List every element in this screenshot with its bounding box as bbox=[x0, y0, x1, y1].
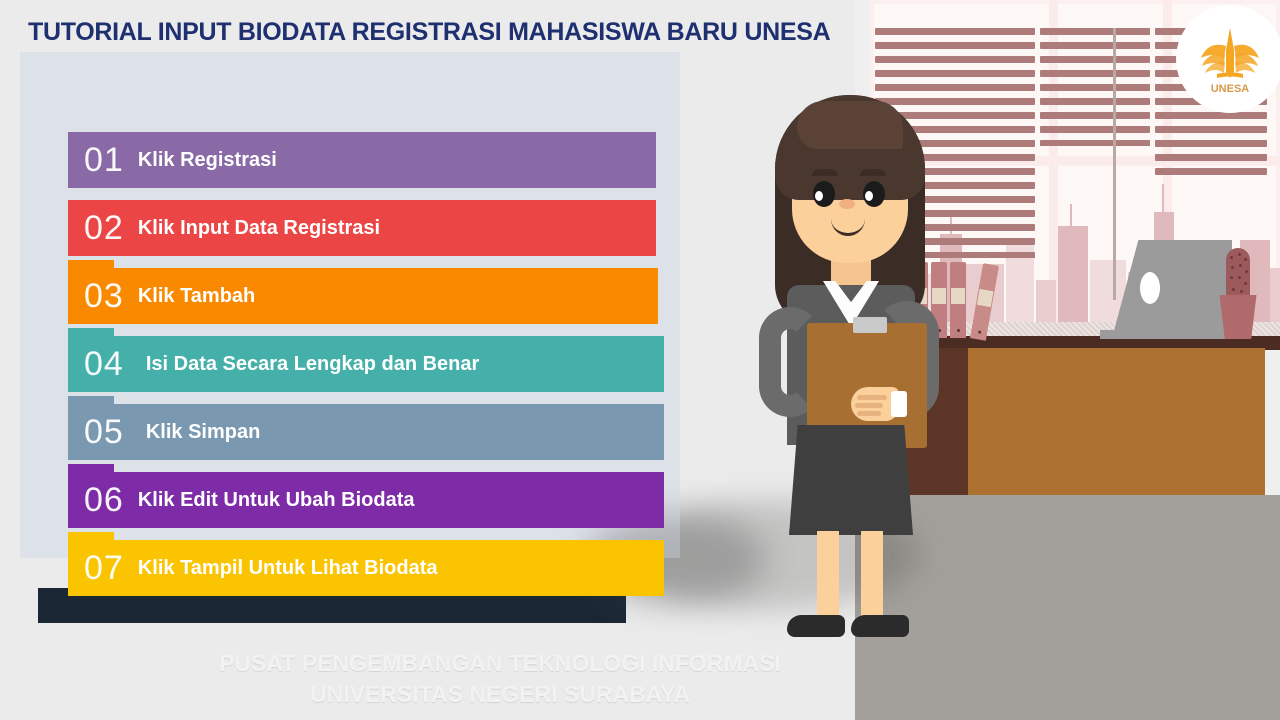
step-bar-06[interactable]: 06Klik Edit Untuk Ubah Biodata bbox=[68, 472, 664, 528]
step-label-07: Klik Tampil Untuk Lihat Biodata bbox=[138, 558, 438, 578]
step-number-04: 04 bbox=[84, 347, 124, 381]
window-blinds-middle bbox=[1040, 28, 1150, 146]
step-label-05: Klik Simpan bbox=[146, 422, 260, 442]
step-row-06[interactable]: 06Klik Edit Untuk Ubah Biodata bbox=[68, 472, 668, 528]
cactus-body bbox=[1226, 248, 1250, 300]
step-bar-03[interactable]: 03Klik Tambah bbox=[68, 268, 658, 324]
blind-cord bbox=[1113, 28, 1116, 300]
step-row-04[interactable]: 04Isi Data Secara Lengkap dan Benar bbox=[68, 336, 668, 392]
step-number-01: 01 bbox=[84, 143, 124, 177]
step-number-06: 06 bbox=[84, 483, 124, 517]
unesa-logo: UNESA bbox=[1176, 5, 1280, 113]
step-label-01: Klik Registrasi bbox=[138, 150, 277, 170]
step-label-02: Klik Input Data Registrasi bbox=[138, 218, 380, 238]
step-number-02: 02 bbox=[84, 211, 124, 245]
clipboard-clip bbox=[853, 317, 887, 333]
tutorial-board: 01Klik Registrasi02Klik Input Data Regis… bbox=[20, 52, 680, 558]
shoe-left bbox=[787, 615, 845, 637]
footer-credit: PUSAT PENGEMBANGAN TEKNOLOGI INFORMASI U… bbox=[0, 648, 1000, 710]
step-bar-01[interactable]: 01Klik Registrasi bbox=[68, 132, 656, 188]
slide-canvas: UNESA bbox=[0, 0, 1280, 720]
skirt bbox=[789, 425, 913, 535]
step-bar-05[interactable]: 05Klik Simpan bbox=[68, 404, 664, 460]
leg-right bbox=[861, 531, 883, 623]
step-row-01[interactable]: 01Klik Registrasi bbox=[68, 132, 668, 188]
shirt-cuff bbox=[891, 391, 907, 417]
step-number-05: 05 bbox=[84, 415, 124, 449]
step-label-04: Isi Data Secara Lengkap dan Benar bbox=[146, 354, 479, 374]
eyebrow-right bbox=[860, 169, 886, 176]
step-bar-04[interactable]: 04Isi Data Secara Lengkap dan Benar bbox=[68, 336, 664, 392]
step-row-05[interactable]: 05Klik Simpan bbox=[68, 404, 668, 460]
eye-right bbox=[863, 181, 885, 207]
footer-line-1: PUSAT PENGEMBANGAN TEKNOLOGI INFORMASI bbox=[0, 648, 1000, 679]
unesa-logo-text: UNESA bbox=[1211, 83, 1250, 95]
step-row-03[interactable]: 03Klik Tambah bbox=[68, 268, 668, 324]
step-row-07[interactable]: 07Klik Tampil Untuk Lihat Biodata bbox=[68, 540, 668, 596]
step-label-06: Klik Edit Untuk Ubah Biodata bbox=[138, 490, 415, 510]
step-label-03: Klik Tambah bbox=[138, 286, 255, 306]
steps-list: 01Klik Registrasi02Klik Input Data Regis… bbox=[68, 132, 668, 608]
step-number-07: 07 bbox=[84, 551, 124, 585]
nose bbox=[839, 199, 855, 209]
hair-fringe bbox=[797, 101, 903, 149]
footer-line-2: UNIVERSITAS NEGERI SURABAYA bbox=[0, 679, 1000, 710]
step-bar-07[interactable]: 07Klik Tampil Untuk Lihat Biodata bbox=[68, 540, 664, 596]
shoe-right bbox=[851, 615, 909, 637]
page-title: TUTORIAL INPUT BIODATA REGISTRASI MAHASI… bbox=[28, 18, 830, 47]
step-number-03: 03 bbox=[84, 279, 124, 313]
office-woman-with-clipboard bbox=[755, 95, 945, 625]
leg-left bbox=[817, 531, 839, 623]
eye-left bbox=[813, 181, 835, 207]
laptop-logo bbox=[1140, 272, 1160, 304]
eyebrow-left bbox=[812, 169, 838, 176]
step-row-02[interactable]: 02Klik Input Data Registrasi bbox=[68, 200, 668, 256]
step-bar-02[interactable]: 02Klik Input Data Registrasi bbox=[68, 200, 656, 256]
